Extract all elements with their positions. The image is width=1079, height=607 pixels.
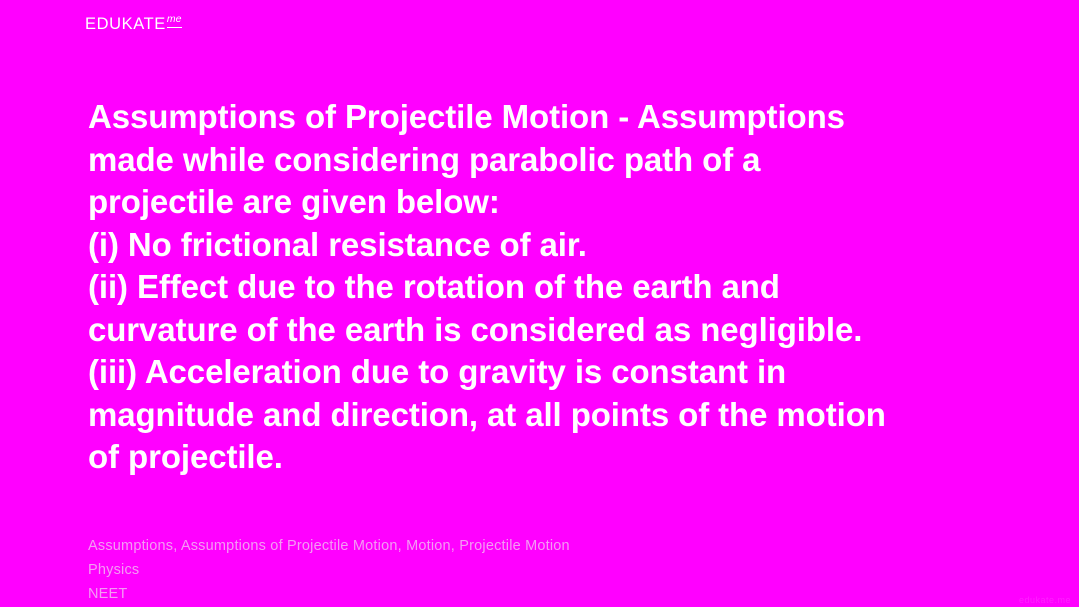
body-line: made while considering parabolic path of… xyxy=(88,139,1000,182)
footer-exam: NEET xyxy=(88,582,988,606)
slide-canvas: EDUKATE me Assumptions of Projectile Mot… xyxy=(0,0,1079,607)
brand-name: EDUKATE xyxy=(85,16,166,33)
slide-footer: Assumptions, Assumptions of Projectile M… xyxy=(88,534,988,606)
brand-superscript: me xyxy=(167,14,182,28)
body-line: (ii) Effect due to the rotation of the e… xyxy=(88,266,1000,309)
body-line: of projectile. xyxy=(88,436,1000,479)
slide-body: Assumptions of Projectile Motion - Assum… xyxy=(88,96,1000,479)
body-line: curvature of the earth is considered as … xyxy=(88,309,1000,352)
body-line: (iii) Acceleration due to gravity is con… xyxy=(88,351,1000,394)
body-line: (i) No frictional resistance of air. xyxy=(88,224,1000,267)
body-line: projectile are given below: xyxy=(88,181,1000,224)
body-line: magnitude and direction, at all points o… xyxy=(88,394,1000,437)
footer-tags: Assumptions, Assumptions of Projectile M… xyxy=(88,534,988,558)
brand-logo: EDUKATE me xyxy=(85,16,182,33)
watermark-text: edukate.me xyxy=(1019,595,1071,605)
footer-subject: Physics xyxy=(88,558,988,582)
body-line: Assumptions of Projectile Motion - Assum… xyxy=(88,96,1000,139)
